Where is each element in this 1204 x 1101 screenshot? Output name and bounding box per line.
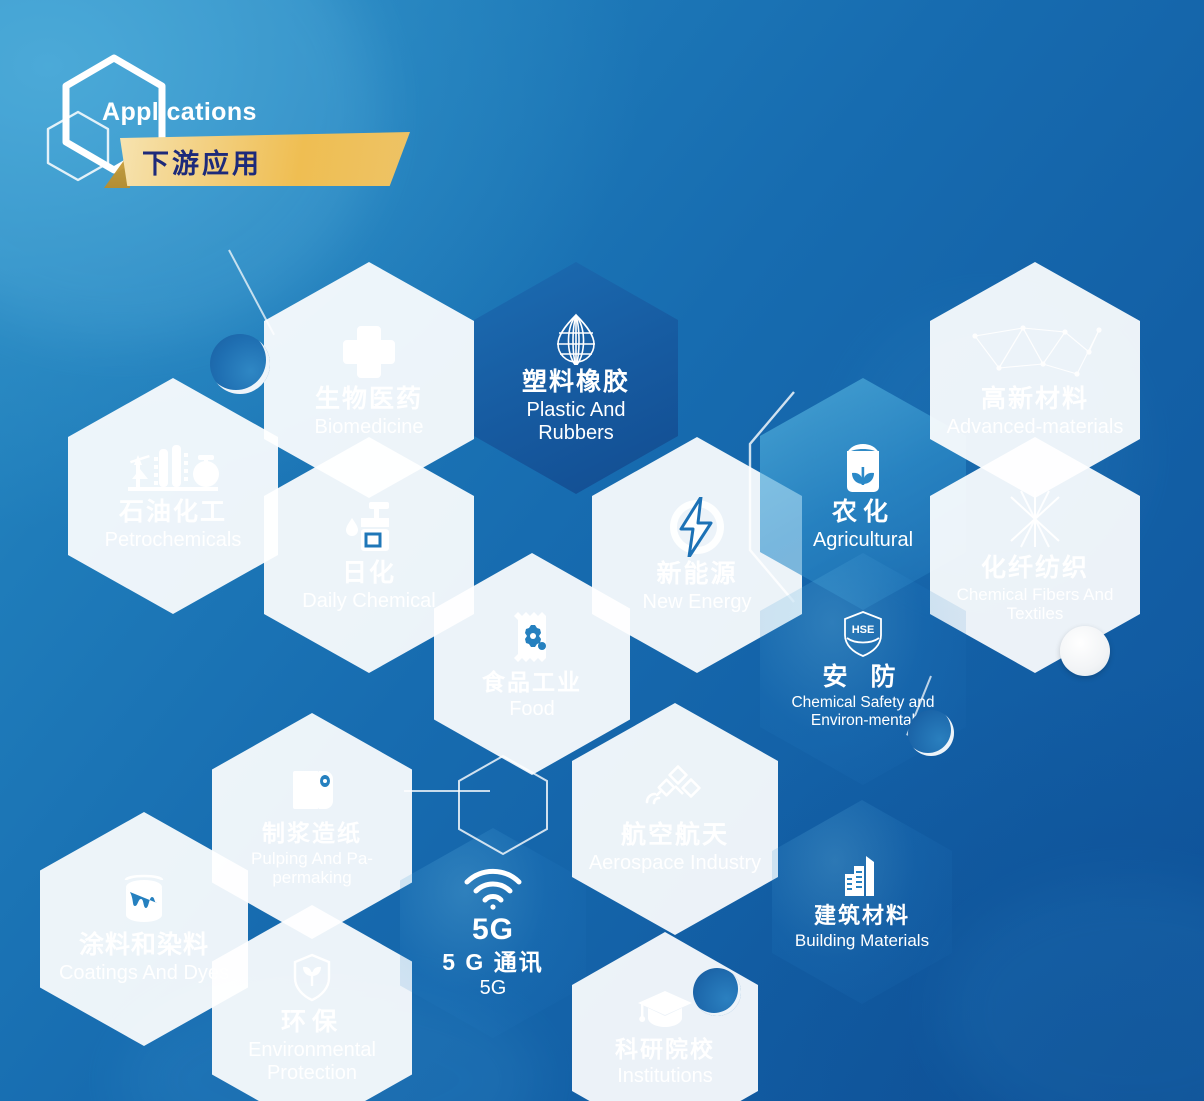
decor-small-hexagon	[455, 752, 551, 858]
infographic-canvas: Applications 下游应用	[0, 0, 1204, 1101]
hex-label-cn: 航空航天	[584, 822, 765, 849]
decor-circle-institutions	[693, 968, 741, 1016]
eco-shield-icon	[286, 951, 338, 1005]
hex-label-cn: 环保	[224, 1009, 400, 1036]
hex-label-en: Chemical Fibers And Textiles	[943, 585, 1128, 624]
hex-label-en: Institutions	[583, 1065, 747, 1087]
paint-bucket-icon	[117, 874, 171, 928]
hex-label-cn: 塑料橡胶	[486, 369, 666, 396]
hex-label-en: Food	[446, 698, 618, 720]
hex-label-en: 5G	[411, 977, 575, 999]
cosmetic-bottle-icon	[341, 498, 397, 556]
decor-circle-fibers	[1060, 626, 1110, 676]
hex-label-cn: 5 G 通讯	[411, 950, 575, 975]
satellite-icon	[645, 764, 705, 818]
hex-label-cn: 制浆造纸	[224, 821, 400, 846]
hex-label-cn: 建筑材料	[783, 904, 941, 928]
hex-label-en: New Energy	[605, 591, 790, 613]
hex-cell-institutions[interactable]: 科研院校 Institutions	[572, 932, 758, 1101]
hex-label-cn: 日化	[277, 560, 462, 587]
molecular-network-icon	[965, 322, 1105, 382]
hex-label-cn: 生物医药	[277, 386, 462, 413]
snack-pack-icon	[506, 608, 558, 666]
graduation-cap-icon	[636, 989, 694, 1033]
hse-shield-icon: HSE	[837, 608, 889, 660]
hex-cell-aerospace[interactable]: 航空航天 Aerospace Industry	[572, 703, 778, 935]
svg-text:HSE: HSE	[852, 624, 875, 636]
hex-label-cn: 安 防	[772, 664, 953, 691]
hex-cell-petrochemicals[interactable]: 石油化工 Petrochemicals	[68, 378, 278, 614]
hex-label-cn: 高新材料	[943, 386, 1128, 413]
hex-label-en: Plastic And Rubbers	[486, 399, 666, 445]
hex-label-en: Building Materials	[783, 931, 941, 950]
hex-cell-building-materials[interactable]: 建筑材料 Building Materials	[772, 800, 952, 1004]
hex-label-en: Pulping And Pa-permaking	[224, 849, 400, 888]
background-glow-right	[940, 880, 1204, 1101]
hex-label-cn: 农化	[772, 499, 953, 526]
medical-cross-icon	[339, 322, 399, 382]
decor-circle-safety	[908, 710, 954, 756]
hex-label-en: Aerospace Industry	[584, 852, 765, 875]
wifi-signal-icon	[462, 866, 524, 910]
hex-label-cn: 化纤纺织	[943, 555, 1128, 582]
hex-label-en: Petrochemicals	[81, 529, 266, 551]
building-icon	[840, 854, 884, 900]
hex-label-cn: 食品工业	[446, 670, 618, 695]
hex-cell-five-g[interactable]: 5G 5 G 通讯 5G	[400, 828, 586, 1038]
textile-weave-icon	[999, 487, 1071, 551]
paper-roll-icon	[287, 765, 337, 817]
hex-label-en: Advanced-materials	[943, 416, 1128, 438]
fertilizer-bag-icon	[837, 437, 889, 495]
hex-label-en: Biomedicine	[277, 416, 462, 438]
header-eyebrow: Applications	[102, 98, 257, 127]
hex-label-cn: 涂料和染料	[52, 932, 235, 959]
hex-label-en: Coatings And Dyes	[52, 962, 235, 985]
hex-label-cn: 科研院校	[583, 1037, 747, 1062]
oil-refinery-icon	[120, 441, 226, 495]
polymer-drop-icon	[551, 311, 601, 365]
energy-bolt-icon	[665, 497, 729, 557]
hex-label-en: Daily Chemical	[277, 590, 462, 612]
hex-label-en: Agricultural	[772, 529, 953, 551]
hex-label-cn: 石油化工	[81, 499, 266, 526]
header: Applications 下游应用	[42, 52, 462, 182]
hex-cell-environmental-protection[interactable]: 环保 Environmental Protection	[212, 905, 412, 1101]
ribbon-title: 下游应用	[142, 142, 262, 181]
hex-label-cn: 新能源	[605, 561, 790, 588]
hex-label-en: Environmental Protection	[224, 1039, 400, 1085]
decor-circle-petrochem	[210, 334, 270, 394]
hex-badge-5g: 5G	[411, 914, 575, 946]
